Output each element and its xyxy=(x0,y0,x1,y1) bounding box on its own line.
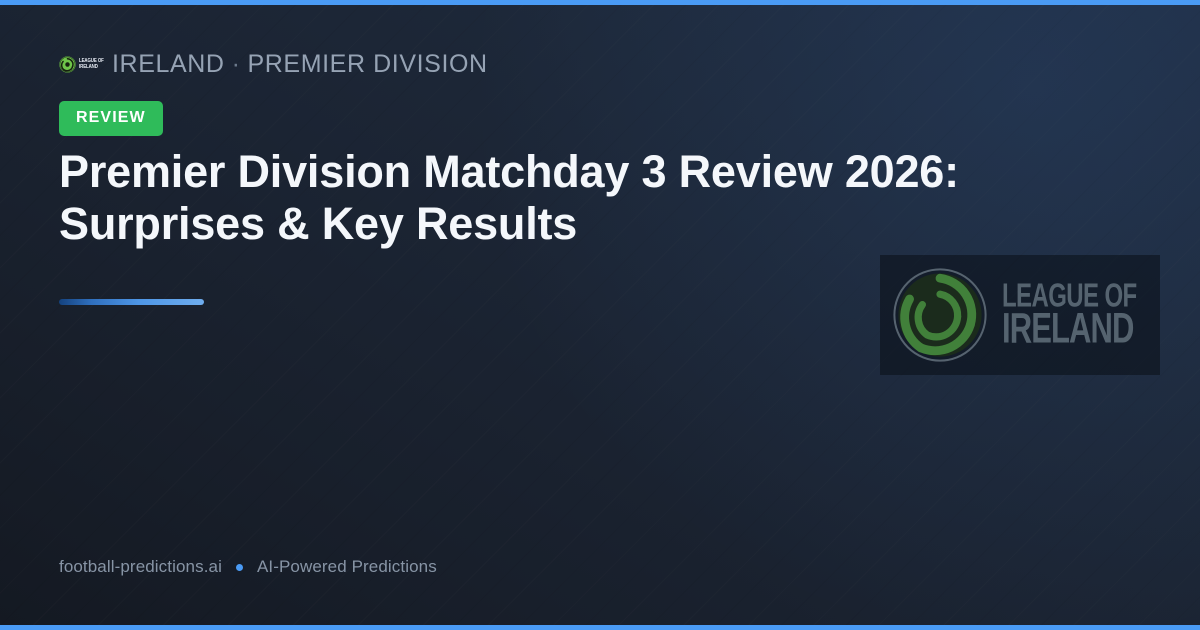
mini-wordmark-line2: IRELAND xyxy=(79,64,104,69)
breadcrumb-country: IRELAND xyxy=(112,50,225,78)
social-share-card: LEAGUE OF IRELAND IRELAND·PREMIER DIVISI… xyxy=(0,0,1200,630)
page-title: Premier Division Matchday 3 Review 2026:… xyxy=(59,146,1019,250)
bottom-accent-bar xyxy=(0,625,1200,630)
footer-bullet-icon xyxy=(236,564,243,571)
footer-tagline: AI-Powered Predictions xyxy=(257,557,437,577)
footer: football-predictions.ai AI-Powered Predi… xyxy=(59,557,437,577)
breadcrumb-text: IRELAND·PREMIER DIVISION xyxy=(112,50,488,79)
top-accent-bar xyxy=(0,0,1200,5)
wordmark-line2: IRELAND xyxy=(1002,310,1137,349)
title-accent-underline xyxy=(59,299,204,305)
breadcrumb-competition: PREMIER DIVISION xyxy=(248,50,488,78)
breadcrumb-separator: · xyxy=(225,50,248,78)
league-wordmark: LEAGUE OF IRELAND xyxy=(1002,286,1137,344)
footer-site: football-predictions.ai xyxy=(59,557,222,577)
league-mini-wordmark: LEAGUE OF IRELAND xyxy=(79,59,104,69)
league-crest-large-icon xyxy=(892,267,988,363)
league-logo: LEAGUE OF IRELAND xyxy=(880,255,1160,375)
league-mini-logo: LEAGUE OF IRELAND xyxy=(59,47,99,81)
category-badge-review: REVIEW xyxy=(59,101,163,136)
breadcrumb: LEAGUE OF IRELAND IRELAND·PREMIER DIVISI… xyxy=(59,44,488,84)
league-crest-icon xyxy=(59,56,76,73)
